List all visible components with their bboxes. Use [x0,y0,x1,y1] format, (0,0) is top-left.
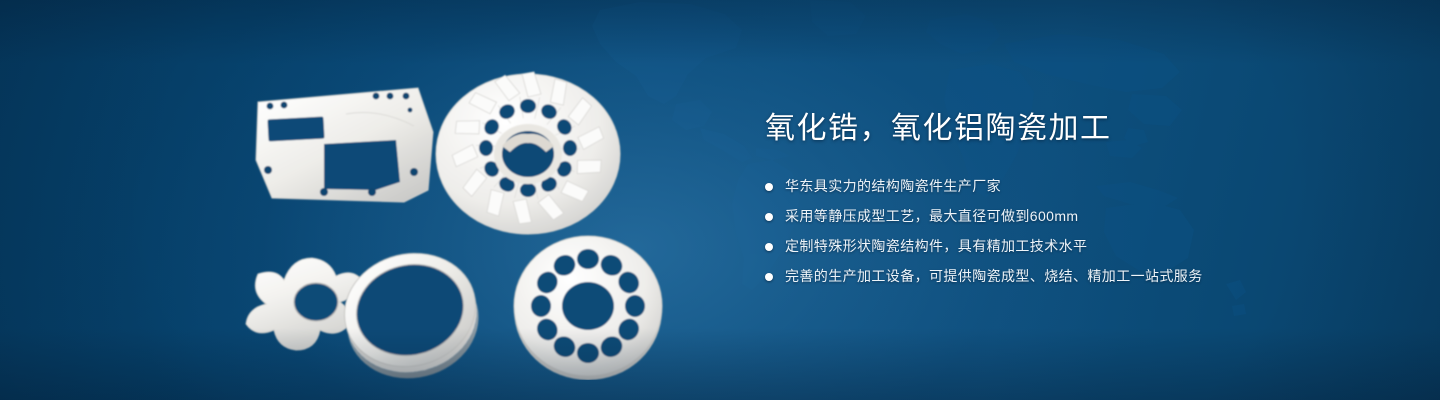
bullet-dot-icon [765,183,773,191]
page-title: 氧化锆，氧化铝陶瓷加工 [765,108,1385,150]
bullet-dot-icon [765,213,773,221]
feature-list: 华东具实力的结构陶瓷件生产厂家 采用等静压成型工艺，最大直径可做到600mm 定… [765,176,1385,287]
list-item: 完善的生产加工设备，可提供陶瓷成型、烧结、精加工一站式服务 [765,266,1385,287]
list-item: 采用等静压成型工艺，最大直径可做到600mm [765,206,1385,227]
list-item-label: 完善的生产加工设备，可提供陶瓷成型、烧结、精加工一站式服务 [785,266,1203,287]
list-item-label: 华东具实力的结构陶瓷件生产厂家 [785,176,1001,197]
list-item: 定制特殊形状陶瓷结构件，具有精加工技术水平 [765,236,1385,257]
bullet-dot-icon [765,243,773,251]
banner-copy: 氧化锆，氧化铝陶瓷加工 华东具实力的结构陶瓷件生产厂家 采用等静压成型工艺，最大… [765,108,1385,296]
hero-banner: 氧化锆，氧化铝陶瓷加工 华东具实力的结构陶瓷件生产厂家 采用等静压成型工艺，最大… [0,0,1440,400]
bullet-dot-icon [765,273,773,281]
list-item: 华东具实力的结构陶瓷件生产厂家 [765,176,1385,197]
list-item-label: 采用等静压成型工艺，最大直径可做到600mm [785,206,1078,227]
list-item-label: 定制特殊形状陶瓷结构件，具有精加工技术水平 [785,236,1087,257]
